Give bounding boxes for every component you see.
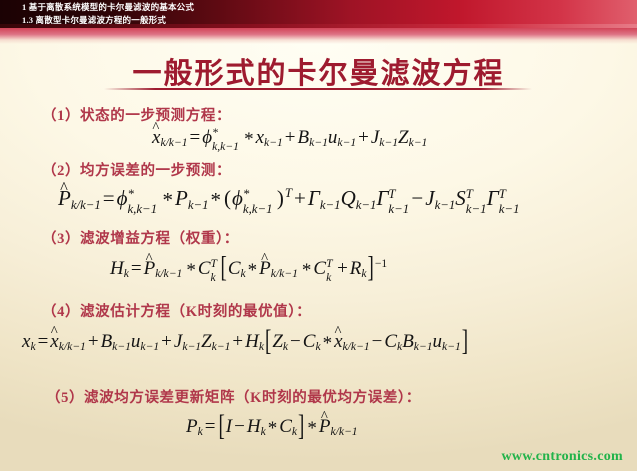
title-underline (104, 88, 532, 90)
equation-1: x^k/k−1=ϕ*k,k−1*xk−1+Bk−1uk−1+Jk−1Zk−1 (152, 127, 427, 149)
banner-heading-1: 1 基于离散系统模型的卡尔曼滤波的基本公式 (22, 1, 194, 13)
page-title: 一般形式的卡尔曼滤波方程 (0, 50, 637, 92)
step-label-2: （2）均方误差的一步预测： (42, 159, 231, 180)
step-label-5: （5）滤波均方误差更新矩阵（K时刻的最优均方误差）： (46, 386, 421, 407)
banner-gradient-fade (0, 28, 637, 44)
step-label-1: （1）状态的一步预测方程： (42, 104, 231, 125)
equation-3: Hk=P^k/k−1*CTk[Ck*P^k/k−1*CTk+Rk]−1 (110, 258, 387, 280)
equation-5: Pk=[I−Hk*Ck]*P^k/k−1 (186, 416, 358, 438)
equation-2: P^k/k−1=ϕ*k,k−1*Pk−1*(ϕ*k,k−1)T+Γk−1Qk−1… (58, 186, 520, 211)
equation-4: xk=x^k/k−1+Bk−1uk−1+Jk−1Zk−1+Hk[Zk−Ck*x^… (22, 331, 469, 353)
slide-canvas: 1 基于离散系统模型的卡尔曼滤波的基本公式 1.3 离散型卡尔曼滤波方程的一般形… (0, 0, 637, 471)
step-label-3: （3）滤波增益方程（权重）： (42, 227, 239, 248)
step-label-4: （4）滤波估计方程（K时刻的最优值）： (42, 300, 311, 321)
site-watermark: www.cntronics.com (502, 449, 624, 465)
